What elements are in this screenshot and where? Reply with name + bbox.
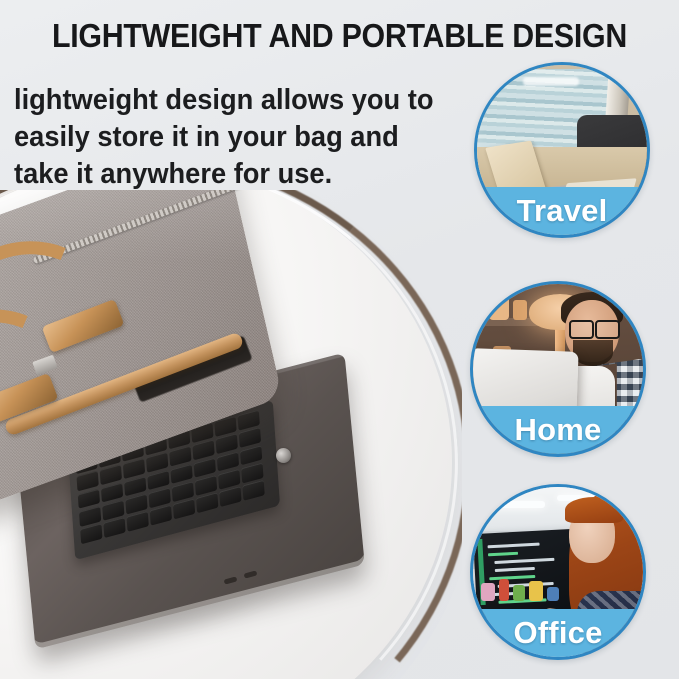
desk-toy — [513, 585, 525, 601]
shelf-decor — [489, 294, 509, 320]
scene-circle-home: Home — [470, 281, 646, 457]
key — [196, 492, 218, 513]
caption-label-office: Office — [513, 617, 602, 648]
scene-circle-travel: Travel — [474, 62, 650, 238]
caption-label-travel: Travel — [517, 195, 608, 226]
key — [239, 427, 261, 448]
lens-left — [569, 320, 594, 339]
body-copy: lightweight design allows you to easily … — [14, 82, 431, 193]
code-line — [494, 558, 554, 564]
code-line — [488, 543, 540, 549]
key — [220, 486, 242, 507]
page-title: LIGHTWEIGHT AND PORTABLE DESIGN — [27, 16, 652, 56]
key — [193, 440, 215, 461]
eyeglasses-icon — [569, 320, 621, 336]
key — [173, 499, 195, 520]
caption-band-travel: Travel — [477, 187, 647, 235]
key — [103, 517, 125, 538]
hair-fringe — [565, 497, 623, 523]
product-photo — [0, 190, 462, 679]
lens-right — [595, 320, 620, 339]
key — [243, 480, 265, 501]
desk-toy — [499, 579, 509, 601]
code-line — [489, 575, 535, 580]
key — [123, 458, 145, 479]
key — [80, 524, 102, 545]
key — [150, 505, 172, 526]
code-line — [488, 552, 518, 557]
key — [100, 465, 122, 486]
body-copy-line-2: easily store it in your bag and — [14, 119, 431, 156]
key — [127, 511, 149, 532]
key — [216, 434, 238, 455]
window-glare — [523, 77, 579, 86]
desk-toy — [529, 581, 543, 601]
beard — [573, 340, 613, 366]
caption-band-office: Office — [473, 609, 643, 657]
caption-band-home: Home — [473, 406, 643, 454]
body-copy-line-3: take it anywhere for use. — [14, 156, 431, 193]
product-feature-banner: LIGHTWEIGHT AND PORTABLE DESIGN lightwei… — [0, 0, 679, 679]
shelf-decor — [513, 300, 527, 320]
ceiling-light — [487, 501, 545, 508]
scene-circle-office: Office — [470, 484, 646, 660]
key — [146, 452, 168, 473]
body-copy-line-1: lightweight design allows you to — [14, 82, 431, 119]
key — [169, 446, 191, 467]
code-line — [495, 567, 535, 572]
desk-toy — [481, 583, 495, 601]
caption-label-home: Home — [515, 414, 602, 445]
key — [76, 471, 98, 492]
desk-toy — [547, 587, 559, 601]
